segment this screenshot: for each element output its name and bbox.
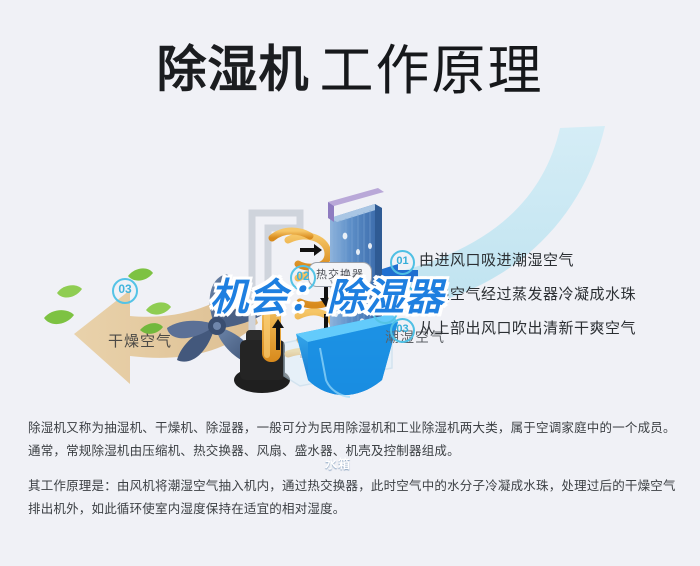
paragraph-4: 排出机外，如此循环使室内湿度保持在适宜的相对湿度。 [28, 499, 678, 520]
page-title: 除湿机工作原理 [0, 26, 700, 105]
paragraph-1: 除湿机又称为抽湿机、干燥机、除湿器，一般可分为民用除湿机和工业除湿机两大类，属于… [28, 418, 678, 439]
description-text: 除湿机又称为抽湿机、干燥机、除湿器，一般可分为民用除湿机和工业除湿机两大类，属于… [28, 418, 678, 522]
step-number: 03 [390, 318, 415, 343]
badge-dry-air-03: 03 [112, 278, 138, 304]
dry-air-label: 干燥空气 [108, 330, 172, 351]
watermark-overlay: 机会：除湿器 [210, 266, 444, 321]
step-text: 潮湿空气经过蒸发器冷凝成水珠 [419, 283, 636, 304]
infographic-page: 除湿机工作原理 [0, 0, 700, 566]
step-text: 从上部出风口吹出清新干爽空气 [419, 317, 636, 338]
paragraph-3: 其工作原理是：由风机将潮湿空气抽入机内，通过热交换器，此时空气中的水分子冷凝成水… [28, 476, 678, 497]
title-secondary: 工作原理 [320, 41, 544, 101]
paragraph-spacer [28, 464, 678, 476]
title-primary: 除湿机 [157, 41, 310, 99]
paragraph-2: 通常，常规除湿机由压缩机、热交换器、风扇、盛水器、机壳及控制器组成。 [28, 441, 678, 462]
